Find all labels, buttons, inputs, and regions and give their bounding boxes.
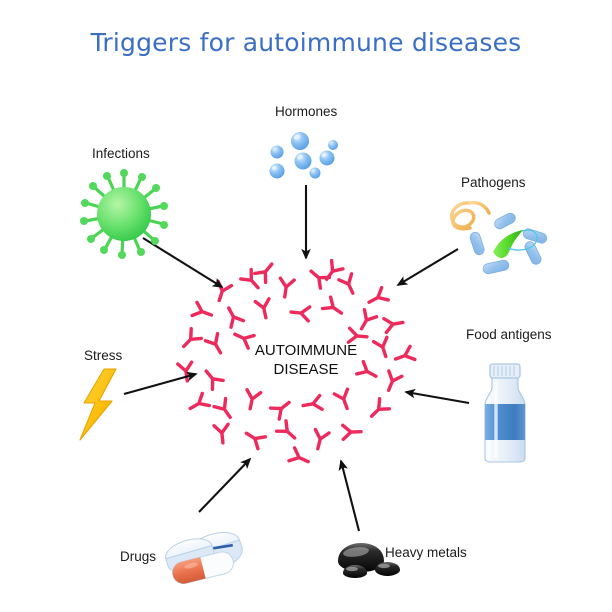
arrow-stress xyxy=(124,374,196,394)
hormone-molecules-icon xyxy=(270,132,339,179)
pills-icon xyxy=(163,527,247,586)
lightning-bolt-icon xyxy=(80,369,116,440)
label-stress: Stress xyxy=(84,348,122,363)
label-heavy-metals: Heavy metals xyxy=(385,545,467,560)
arrow-infections xyxy=(143,238,222,287)
label-hormones: Hormones xyxy=(275,104,337,119)
label-infections: Infections xyxy=(92,146,150,161)
arrow-pathogens xyxy=(398,249,458,285)
milk-bottle-icon xyxy=(485,364,525,462)
autoimmune-triggers-infographic: Triggers for autoimmune diseases xyxy=(0,0,612,612)
arrow-food-antigens xyxy=(406,392,469,403)
center-label: AUTOIMMUNE DISEASE xyxy=(221,341,391,379)
diagram-canvas xyxy=(0,0,612,612)
label-pathogens: Pathogens xyxy=(461,175,526,190)
bacteria-icon xyxy=(452,203,548,275)
arrow-drugs xyxy=(199,459,250,512)
label-drugs: Drugs xyxy=(120,549,156,564)
label-food-antigens: Food antigens xyxy=(466,327,552,342)
arrow-heavy-metals xyxy=(341,461,359,531)
